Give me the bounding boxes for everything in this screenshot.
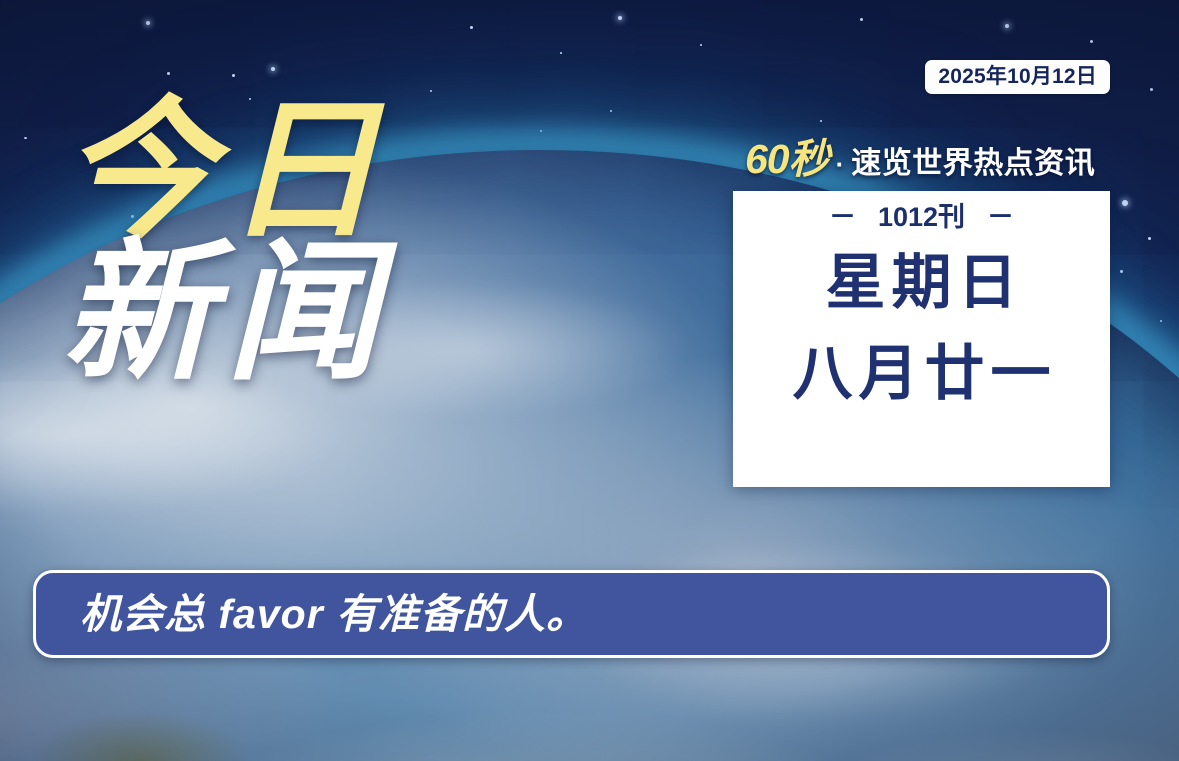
issue-row: － 1012刊 － [829, 204, 1014, 231]
title-line-xinwen: 新闻 [62, 238, 482, 388]
title-line-jinri: 今日 [62, 96, 482, 246]
weekday-label: 星期日 [820, 248, 1024, 317]
lunar-date-label: 八月廿一 [787, 339, 1057, 408]
issue-dash-left: － [829, 204, 856, 231]
issue-dash-right: － [987, 204, 1014, 231]
page-title: 今日 新闻 [62, 96, 482, 389]
issue-number: 1012刊 [878, 204, 965, 231]
quote-text: 机会总 favor 有准备的人。 [80, 594, 588, 635]
tagline-separator: · [833, 151, 848, 177]
tagline-seconds: 60秒 [745, 139, 829, 180]
tagline: 60秒 · 速览世界热点资讯 [745, 139, 1095, 180]
tagline-description: 速览世界热点资讯 [851, 149, 1095, 179]
news-poster: 2025年10月12日 60秒 · 速览世界热点资讯 今日 新闻 － 1012刊… [0, 0, 1179, 761]
info-card: － 1012刊 － 星期日 八月廿一 [733, 191, 1110, 487]
quote-bar: 机会总 favor 有准备的人。 [33, 570, 1110, 658]
date-badge: 2025年10月12日 [925, 60, 1110, 94]
